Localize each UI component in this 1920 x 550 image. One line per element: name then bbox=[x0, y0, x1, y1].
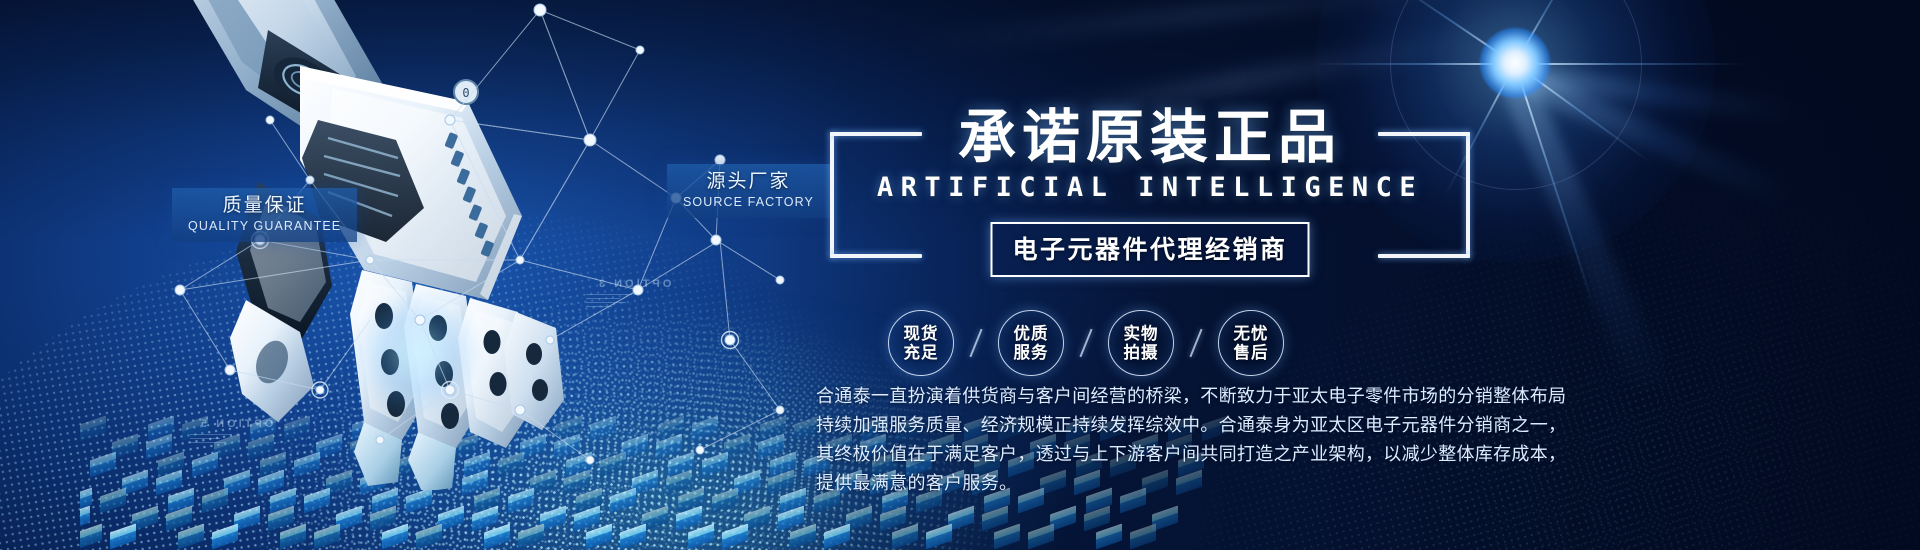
feature-badge: 优质服务 bbox=[998, 310, 1064, 376]
chip-factory-en: SOURCE FACTORY bbox=[683, 195, 814, 209]
feature-badge: 无忧售后 bbox=[1218, 310, 1284, 376]
chip-factory-cn: 源头厂家 bbox=[683, 171, 814, 193]
headline-title-en: ARTIFICIAL INTELLIGENCE bbox=[830, 172, 1470, 203]
bracket-right-bottom bbox=[1378, 254, 1470, 258]
headline-subtitle-box: 电子元器件代理经销商 bbox=[990, 222, 1309, 277]
description-paragraph: 合通泰一直扮演着供货商与客户间经营的桥梁，不断致力于亚太电子零件市场的分销整体布… bbox=[816, 382, 1596, 499]
feature-badge: 实物拍摄 bbox=[1108, 310, 1174, 376]
headline-block: 承诺原装正品 ARTIFICIAL INTELLIGENCE 电子元器件代理经销… bbox=[830, 96, 1470, 276]
feature-badge-line1: 优质 bbox=[1014, 324, 1049, 343]
paragraph-line: 提供最满意的客户服务。 bbox=[816, 469, 1596, 498]
badge-source-factory: 源头厂家 SOURCE FACTORY bbox=[667, 164, 830, 218]
paragraph-line: 其终极价值在于满足客户，透过与上下游客户间共同打造之产业架构，以减少整体库存成本… bbox=[816, 440, 1596, 469]
chip-quality-cn: 质量保证 bbox=[188, 195, 341, 217]
feature-badge-line2: 服务 bbox=[1014, 343, 1049, 362]
badge-separator bbox=[954, 328, 998, 358]
feature-badge-line1: 实物 bbox=[1124, 324, 1159, 343]
promo-banner: 0 bbox=[0, 0, 1920, 550]
paragraph-line: 合通泰一直扮演着供货商与客户间经营的桥梁，不断致力于亚太电子零件市场的分销整体布… bbox=[816, 382, 1596, 411]
badge-quality-guarantee: 质量保证 QUALITY GUARANTEE bbox=[172, 188, 357, 242]
chip-quality-en: QUALITY GUARANTEE bbox=[188, 219, 341, 233]
paragraph-line: 持续加强服务质量、经济规模正持续发挥综效中。合通泰身为亚太区电子元器件分销商之一… bbox=[816, 411, 1596, 440]
feature-badge-row: 现货充足优质服务实物拍摄无忧售后 bbox=[888, 310, 1284, 376]
headline-title-cn: 承诺原装正品 bbox=[830, 90, 1470, 174]
feature-badge-line1: 无忧 bbox=[1234, 324, 1269, 343]
badge-separator bbox=[1064, 328, 1108, 358]
feature-badge-line2: 售后 bbox=[1234, 343, 1269, 362]
feature-badge-line2: 充足 bbox=[904, 343, 939, 362]
headline-subtitle-text: 电子元器件代理经销商 bbox=[1012, 230, 1287, 266]
feature-badge-line1: 现货 bbox=[904, 324, 939, 343]
feature-badge-line2: 拍摄 bbox=[1124, 343, 1159, 362]
badge-separator bbox=[1174, 328, 1218, 358]
bracket-left-bottom bbox=[830, 254, 922, 258]
feature-badge: 现货充足 bbox=[888, 310, 954, 376]
